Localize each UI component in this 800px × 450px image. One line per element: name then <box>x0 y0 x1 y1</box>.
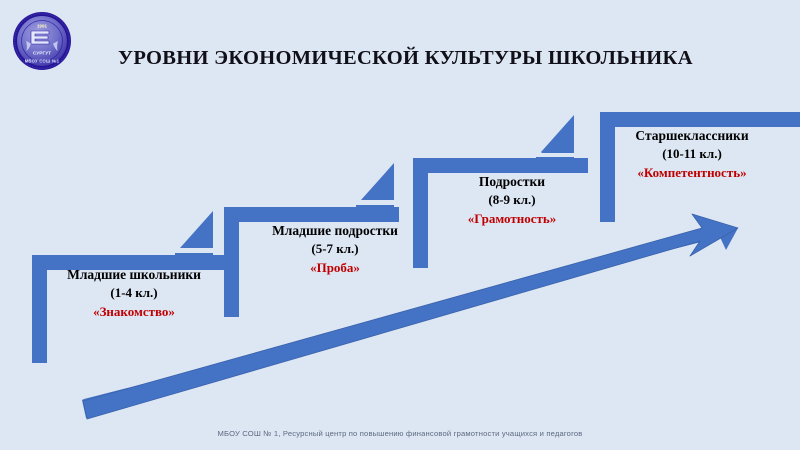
step-audience-2: Младшие подростки <box>240 221 430 240</box>
step-label-4: Старшеклассники (10-11 кл.) «Компетентно… <box>606 126 778 182</box>
slide-footer: МБОУ СОШ № 1, Ресурсный центр по повышен… <box>0 429 800 438</box>
step-grades-2: (5-7 кл.) <box>240 240 430 258</box>
slide-canvas: 1991 СУРГУТ МБОУ СОШ №1 УРОВНИ ЭКОНОМИЧЕ… <box>0 0 800 450</box>
step-level-3: «Грамотность» <box>432 210 592 228</box>
step-audience-3: Подростки <box>432 172 592 191</box>
step-riser-triangle-4 <box>541 115 574 152</box>
step-level-4: «Компетентность» <box>606 164 778 182</box>
step-grades-3: (8-9 кл.) <box>432 191 592 209</box>
step-top-bar-2 <box>224 207 399 222</box>
step-label-1: Младшие школьники (1-4 кл.) «Знакомство» <box>48 265 220 321</box>
step-riser-triangle-3 <box>361 163 394 200</box>
step-level-1: «Знакомство» <box>48 303 220 321</box>
step-left-bar-1 <box>32 255 47 363</box>
step-top-bar-3 <box>413 158 588 173</box>
step-label-3: Подростки (8-9 кл.) «Грамотность» <box>432 172 592 228</box>
step-audience-4: Старшеклассники <box>606 126 778 145</box>
step-audience-1: Младшие школьники <box>48 265 220 284</box>
step-grades-4: (10-11 кл.) <box>606 145 778 163</box>
step-top-bar-4 <box>600 112 800 127</box>
step-left-bar-2 <box>224 207 239 317</box>
step-level-2: «Проба» <box>240 259 430 277</box>
step-grades-1: (1-4 кл.) <box>48 284 220 302</box>
step-riser-triangle-2 <box>180 211 213 248</box>
step-label-2: Младшие подростки (5-7 кл.) «Проба» <box>240 221 430 277</box>
